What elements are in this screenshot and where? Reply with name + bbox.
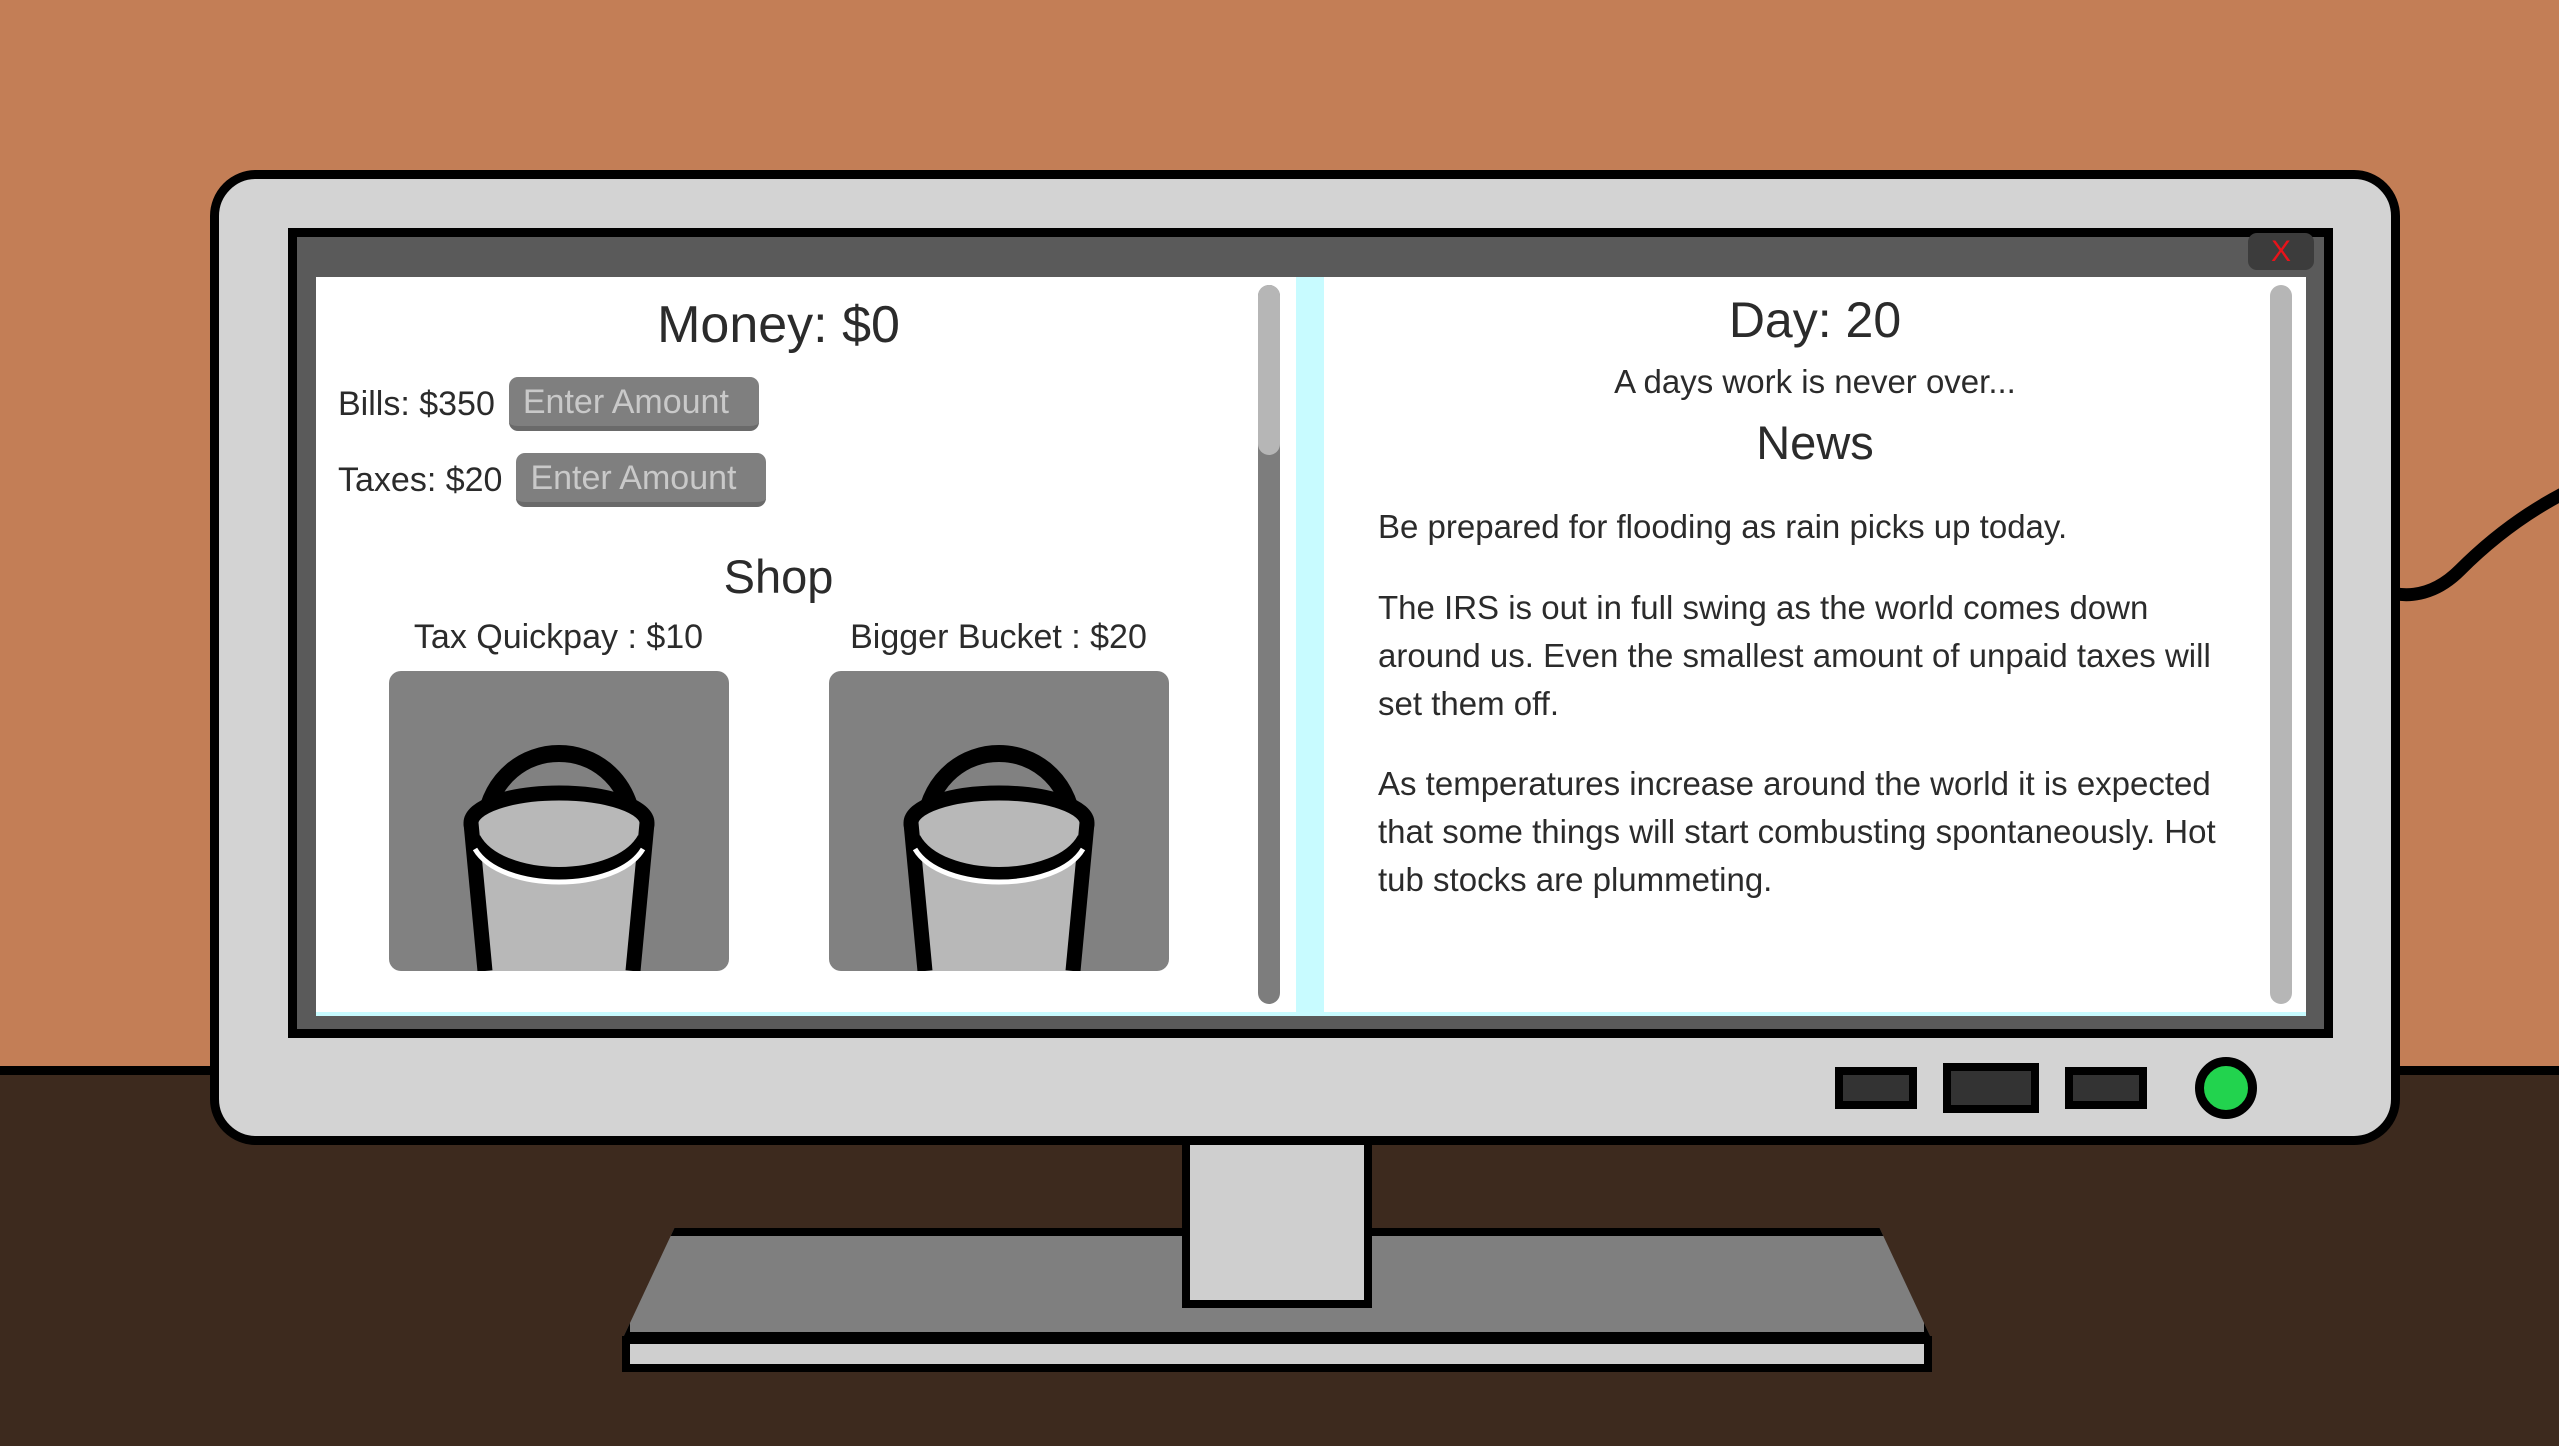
shop-item-art bbox=[389, 671, 729, 971]
news-heading: News bbox=[1324, 415, 2306, 470]
news-list: Be prepared for flooding as rain picks u… bbox=[1324, 503, 2306, 904]
menu-button[interactable] bbox=[1835, 1067, 1917, 1109]
day-counter: Day: 20 bbox=[1324, 291, 2306, 349]
left-panel-scrollbar-thumb[interactable] bbox=[1258, 285, 1280, 455]
shop-item-tax-quickpay[interactable]: Tax Quickpay : $10 bbox=[389, 618, 729, 971]
news-panel: Day: 20 A days work is never over... New… bbox=[1324, 277, 2306, 1012]
bills-label: Bills: $350 bbox=[338, 385, 495, 424]
shop-item-bigger-bucket[interactable]: Bigger Bucket : $20 bbox=[829, 618, 1169, 971]
left-panel-scrollbar-track[interactable] bbox=[1258, 285, 1280, 1004]
taxes-amount-input[interactable] bbox=[516, 453, 766, 507]
desk-scene: X Money: $0 Bills: $350 Taxes: $20 Shop … bbox=[0, 0, 2559, 1446]
shop-heading: Shop bbox=[316, 549, 1241, 604]
bucket-icon bbox=[829, 671, 1169, 971]
panel-divider bbox=[1296, 277, 1324, 1012]
select-button[interactable] bbox=[1943, 1063, 2039, 1113]
day-subtitle: A days work is never over... bbox=[1324, 363, 2306, 401]
power-toggle-button[interactable] bbox=[2065, 1067, 2147, 1109]
shop-item-art bbox=[829, 671, 1169, 971]
taxes-label: Taxes: $20 bbox=[338, 461, 502, 500]
finances-panel: Money: $0 Bills: $350 Taxes: $20 Shop Ta… bbox=[316, 277, 1241, 1012]
news-item: Be prepared for flooding as rain picks u… bbox=[1378, 503, 2248, 551]
stand-base-front bbox=[622, 1336, 1932, 1372]
shop-item-label: Bigger Bucket : $20 bbox=[829, 618, 1169, 657]
shop-item-label: Tax Quickpay : $10 bbox=[389, 618, 729, 657]
close-window-button[interactable]: X bbox=[2248, 233, 2314, 270]
power-led-icon bbox=[2195, 1057, 2257, 1119]
app-viewport: Money: $0 Bills: $350 Taxes: $20 Shop Ta… bbox=[316, 277, 2306, 1016]
news-item: As temperatures increase around the worl… bbox=[1378, 760, 2248, 904]
taxes-row: Taxes: $20 bbox=[316, 453, 1241, 507]
bills-row: Bills: $350 bbox=[316, 377, 1241, 431]
news-item: The IRS is out in full swing as the worl… bbox=[1378, 584, 2248, 728]
bucket-icon bbox=[389, 671, 729, 971]
news-panel-scrollbar-thumb[interactable] bbox=[2270, 285, 2292, 1004]
bills-amount-input[interactable] bbox=[509, 377, 759, 431]
close-icon: X bbox=[2271, 237, 2291, 267]
left-panel-scrollbar-area bbox=[1241, 277, 1296, 1012]
shop-grid: Tax Quickpay : $10 bbox=[316, 618, 1241, 971]
monitor-bezel-controls bbox=[1835, 1057, 2257, 1119]
monitor-stand-neck bbox=[1182, 1128, 1372, 1308]
money-display: Money: $0 bbox=[316, 295, 1241, 355]
